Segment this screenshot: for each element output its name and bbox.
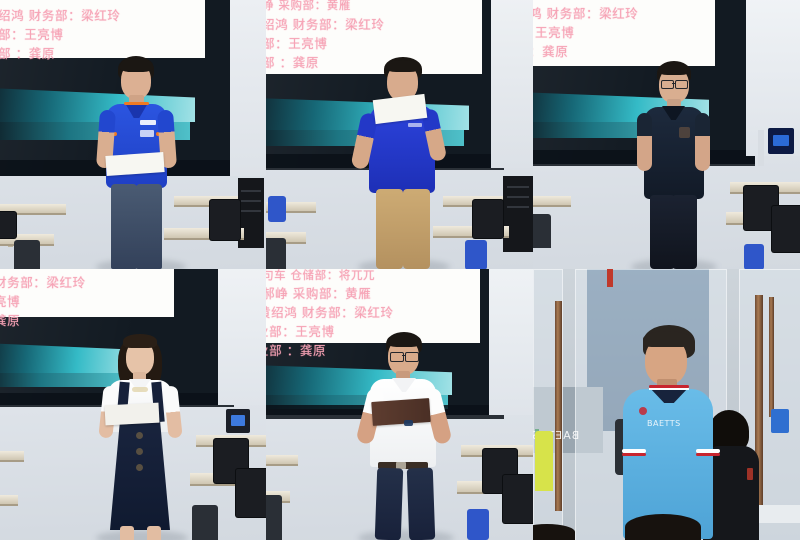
dress-button-1	[136, 432, 143, 439]
door-handle-right	[769, 297, 774, 417]
chair-blue-right	[465, 240, 487, 269]
photo-panel-3[interactable]: 鸿 财务部：梁红玲 王亮博 ：龚原	[533, 0, 800, 269]
device-lens	[231, 415, 245, 426]
arm-right-behind-back	[695, 113, 710, 171]
wall-panel	[491, 0, 533, 168]
person-figure	[352, 57, 452, 269]
chair-left	[533, 214, 551, 248]
shirt-logo	[140, 120, 156, 125]
dress-button-3	[136, 464, 143, 471]
shirt-crest	[679, 127, 690, 138]
student-desk-left	[0, 451, 24, 462]
leg-right	[407, 468, 435, 540]
leg-right	[403, 189, 430, 269]
photo-panel-5[interactable]: 句车 仓储部：将兀兀 郝峥 采购部：黄雁 黄绍鸿 财务部：梁红玲 业部：王亮博 …	[266, 269, 533, 540]
held-paper	[105, 403, 160, 426]
wall-panel	[218, 269, 266, 405]
monitor-right-2	[503, 475, 533, 523]
hair-front	[123, 334, 157, 348]
photo-panel-4[interactable]: 财务部：梁红玲 亮博 龚原	[0, 269, 266, 540]
device-lens	[773, 135, 789, 147]
scanner-device	[226, 409, 250, 433]
door-mullion-left	[555, 301, 562, 511]
slide-line-1: 财务部：梁红玲	[0, 273, 86, 292]
slide-line-3: 部 ：龚原	[0, 44, 55, 63]
glasses-lens-right	[675, 80, 688, 89]
slide-line-2: 绍鸿 财务部：梁红玲	[266, 15, 384, 34]
person-figure: BAETTS	[613, 325, 729, 540]
sleeve-flag-detail	[747, 468, 753, 480]
leg-right	[672, 195, 697, 269]
leg-left	[111, 184, 137, 269]
collar-trim	[124, 102, 149, 105]
wall-panel	[489, 269, 533, 415]
chair-blue-right	[467, 509, 489, 540]
slide-line-1: 峥 采购部：黄雁	[266, 0, 351, 14]
sleeve-cuff-left-red	[622, 453, 646, 456]
glasses-bridge	[672, 83, 675, 84]
wall-panel	[230, 0, 266, 176]
slide-line-2: 亮博	[0, 292, 20, 311]
sleeve-cuff-right-red	[696, 453, 720, 456]
slide-line-2: 郝峥 采购部：黄雁	[266, 284, 371, 303]
chair-left	[266, 495, 282, 540]
shirt-logo	[408, 123, 422, 127]
student-desk-left	[533, 196, 571, 207]
leg-left	[375, 468, 403, 540]
person-figure	[625, 61, 721, 269]
device-mount-arm	[758, 130, 764, 166]
chair-left	[266, 238, 286, 269]
glasses-lens-left	[661, 80, 674, 89]
chest-emblem	[639, 407, 647, 415]
necklace	[132, 387, 148, 392]
wristwatch	[404, 420, 413, 426]
background-person-vest	[535, 431, 553, 491]
hair-front	[387, 334, 421, 347]
blue-wall-sign	[771, 409, 789, 433]
photo-panel-6[interactable]: BAETTS BAETTS	[533, 269, 800, 540]
monitor-right-2	[772, 206, 800, 252]
slide-line-5: 业部 ：龚原	[266, 341, 326, 360]
photo-panel-2[interactable]: 峥 采购部：黄雁 绍鸿 财务部：梁红玲 部：王亮博 部 ：龚原	[266, 0, 533, 269]
chair-right	[192, 505, 218, 540]
glasses-lens-left	[390, 352, 404, 362]
leg-left	[120, 526, 134, 540]
monitor-right	[473, 200, 503, 238]
monitor-right-2	[236, 469, 266, 517]
monitor-left	[0, 212, 16, 238]
foreground-head-1	[625, 514, 701, 540]
ceiling-marker	[607, 269, 613, 287]
chair-blue-right	[744, 244, 764, 269]
leg-right	[147, 526, 161, 540]
hair-front	[120, 58, 153, 72]
foreground-head-2	[533, 524, 575, 540]
slide-line-3: 部：王亮博	[266, 34, 328, 53]
slide-line-3: ：龚原	[533, 42, 568, 61]
hair-front	[386, 60, 420, 72]
leg-right	[136, 184, 162, 269]
slide-line-4: 业部：王亮博	[266, 322, 335, 341]
glasses-bridge	[402, 355, 405, 356]
monitor-right	[210, 200, 240, 240]
photo-panel-1[interactable]: 绍鸿 财务部：梁红玲 部：王亮博 部 ：龚原	[0, 0, 266, 269]
shirt-logo-text: BAETTS	[647, 419, 681, 428]
person-figure	[352, 332, 456, 540]
slide-line-1: 句车 仓储部：将兀兀	[266, 269, 375, 284]
slide-line-2: 王亮博	[535, 23, 574, 42]
slide-line-1: 绍鸿 财务部：梁红玲	[0, 6, 120, 25]
chair-left	[14, 240, 40, 269]
slide-line-3: 龚原	[0, 311, 20, 330]
computer-tower-right	[503, 176, 533, 252]
student-desk-left	[266, 455, 298, 466]
held-folder	[371, 398, 431, 426]
photo-collage: 绍鸿 财务部：梁红玲 部：王亮博 部 ：龚原	[0, 0, 800, 540]
slide-line-2: 部：王亮博	[0, 25, 64, 44]
chair-blue-left	[268, 196, 286, 222]
leg-left	[376, 189, 403, 269]
glasses-lens-right	[405, 352, 419, 362]
hair-front	[643, 331, 691, 347]
held-paper	[105, 152, 164, 176]
hair-front	[658, 63, 690, 75]
slide-line-1: 鸿 财务部：梁红玲	[533, 4, 638, 23]
slide-line-4: 部 ：龚原	[266, 53, 319, 72]
arm-left-behind-back	[637, 113, 652, 171]
scanner-device	[768, 128, 794, 154]
person-figure	[88, 330, 192, 540]
student-desk-left-2	[0, 495, 18, 506]
person-figure	[88, 54, 184, 269]
slide-line-3: 黄绍鸿 财务部：梁红玲	[266, 303, 394, 322]
dress-button-2	[136, 448, 143, 455]
shirt-badge	[140, 130, 154, 137]
collar-stripe-white	[649, 388, 689, 390]
